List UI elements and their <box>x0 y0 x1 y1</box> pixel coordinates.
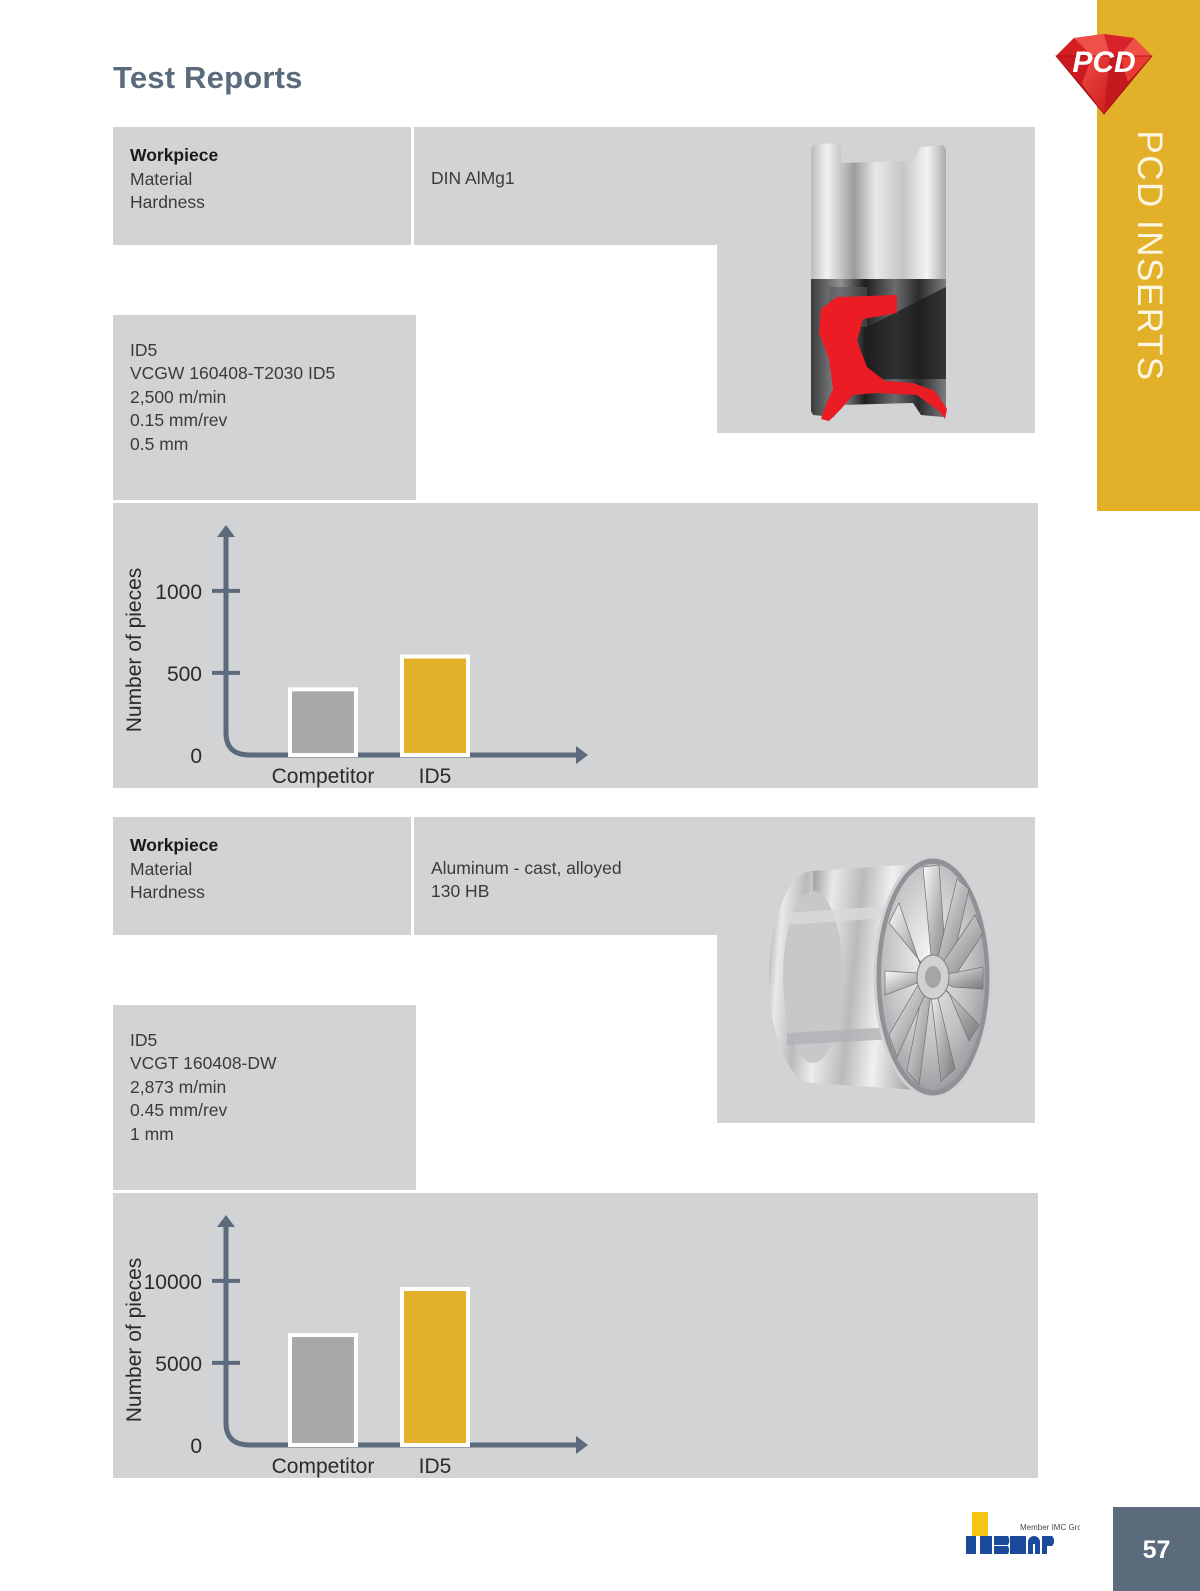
workpiece-title: Workpiece <box>130 834 411 857</box>
cutting-value-insert-geometry: VCGT 160408-DW <box>130 1052 416 1075</box>
cutting-value-cutting-speed: 2,500 m/min <box>130 386 416 409</box>
x-axis-category-label: Competitor <box>272 1455 375 1478</box>
x-axis-category-label: Competitor <box>272 765 375 788</box>
x-axis-category-label: ID5 <box>419 765 452 788</box>
page-number: 57 <box>1113 1536 1200 1565</box>
spec-table-2: Workpiece Material Hardness Aluminum - c… <box>113 817 1038 1190</box>
side-tab-label: PCD INSERTS <box>1129 130 1169 381</box>
iscar-tagline: Member IMC Group <box>1020 1523 1080 1532</box>
bar-id5 <box>402 657 468 756</box>
workpiece-value-material: DIN AlMg1 <box>431 167 717 190</box>
page-number-box: 57 <box>1113 1507 1200 1591</box>
alloy-wheel-image <box>717 817 1035 1123</box>
chart-panel-2: 0500010000Number of piecesCompetitorID5 <box>113 1193 1038 1478</box>
cutting-value-insert-geometry: VCGW 160408-T2030 ID5 <box>130 362 416 385</box>
cutting-value-feed-rate: 0.45 mm/rev <box>130 1099 416 1122</box>
workpiece-values-cell-2: Aluminum - cast, alloyed 130 HB <box>414 817 717 935</box>
y-axis-tick-label: 0 <box>190 745 202 768</box>
workpiece-labels-cell-2: Workpiece Material Hardness <box>113 817 411 935</box>
workpiece-label-material: Material <box>130 858 411 881</box>
iscar-brand-icon: Member IMC Group <box>962 1506 1080 1558</box>
y-axis-title: Number of pieces <box>123 568 146 733</box>
bar-chart-2: 0500010000Number of piecesCompetitorID5 <box>113 1193 1038 1478</box>
y-axis-title: Number of pieces <box>123 1258 146 1423</box>
y-axis-tick-label: 0 <box>190 1435 202 1458</box>
y-axis-tick-label: 500 <box>167 663 202 686</box>
pcd-diamond-icon: PCD <box>1052 26 1156 118</box>
chart-panel-1: 05001000Number of piecesCompetitorID5 <box>113 503 1038 788</box>
workpiece-label-hardness: Hardness <box>130 881 411 904</box>
spec-table-1: Workpiece Material Hardness DIN AlMg1 <box>113 127 1038 500</box>
bar-id5 <box>402 1289 468 1445</box>
cutting-values-cell-1: ID5 VCGW 160408-T2030 ID5 2,500 m/min 0.… <box>113 315 416 500</box>
test-report-block-2: Workpiece Material Hardness Aluminum - c… <box>113 817 1038 1478</box>
y-axis-tick-label: 5000 <box>155 1353 202 1376</box>
workpiece-value-hardness: 130 HB <box>431 880 717 903</box>
cutting-value-cutting-speed: 2,873 m/min <box>130 1076 416 1099</box>
cutting-value-depth-of-cut: 1 mm <box>130 1123 416 1146</box>
cutting-value-feed-rate: 0.15 mm/rev <box>130 409 416 432</box>
wheel-rim-section-image <box>717 127 1035 433</box>
workpiece-title: Workpiece <box>130 144 411 167</box>
workpiece-labels-cell-1: Workpiece Material Hardness <box>113 127 411 245</box>
cutting-value-depth-of-cut: 0.5 mm <box>130 433 416 456</box>
test-report-block-1: Workpiece Material Hardness DIN AlMg1 <box>113 127 1038 788</box>
pcd-logo: PCD <box>1052 26 1156 118</box>
workpiece-value-material: Aluminum - cast, alloyed <box>431 857 717 880</box>
cutting-values-cell-2: ID5 VCGT 160408-DW 2,873 m/min 0.45 mm/r… <box>113 1005 416 1190</box>
bar-chart-1: 05001000Number of piecesCompetitorID5 <box>113 503 1038 788</box>
workpiece-label-hardness: Hardness <box>130 191 411 214</box>
workpiece-image-cell-2 <box>717 817 1035 1123</box>
cutting-value-grade: ID5 <box>130 1029 416 1052</box>
y-axis-tick-label: 10000 <box>144 1271 202 1294</box>
pcd-logo-text: PCD <box>1072 46 1135 79</box>
workpiece-image-cell-1 <box>717 127 1035 433</box>
bar-competitor <box>290 1335 356 1445</box>
x-axis-category-label: ID5 <box>419 1455 452 1478</box>
y-axis-tick-label: 1000 <box>155 581 202 604</box>
workpiece-label-material: Material <box>130 168 411 191</box>
cutting-value-grade: ID5 <box>130 339 416 362</box>
bar-competitor <box>290 689 356 755</box>
page-title: Test Reports <box>113 60 303 96</box>
iscar-logo: Member IMC Group <box>962 1506 1080 1558</box>
workpiece-values-cell-1: DIN AlMg1 <box>414 127 717 245</box>
